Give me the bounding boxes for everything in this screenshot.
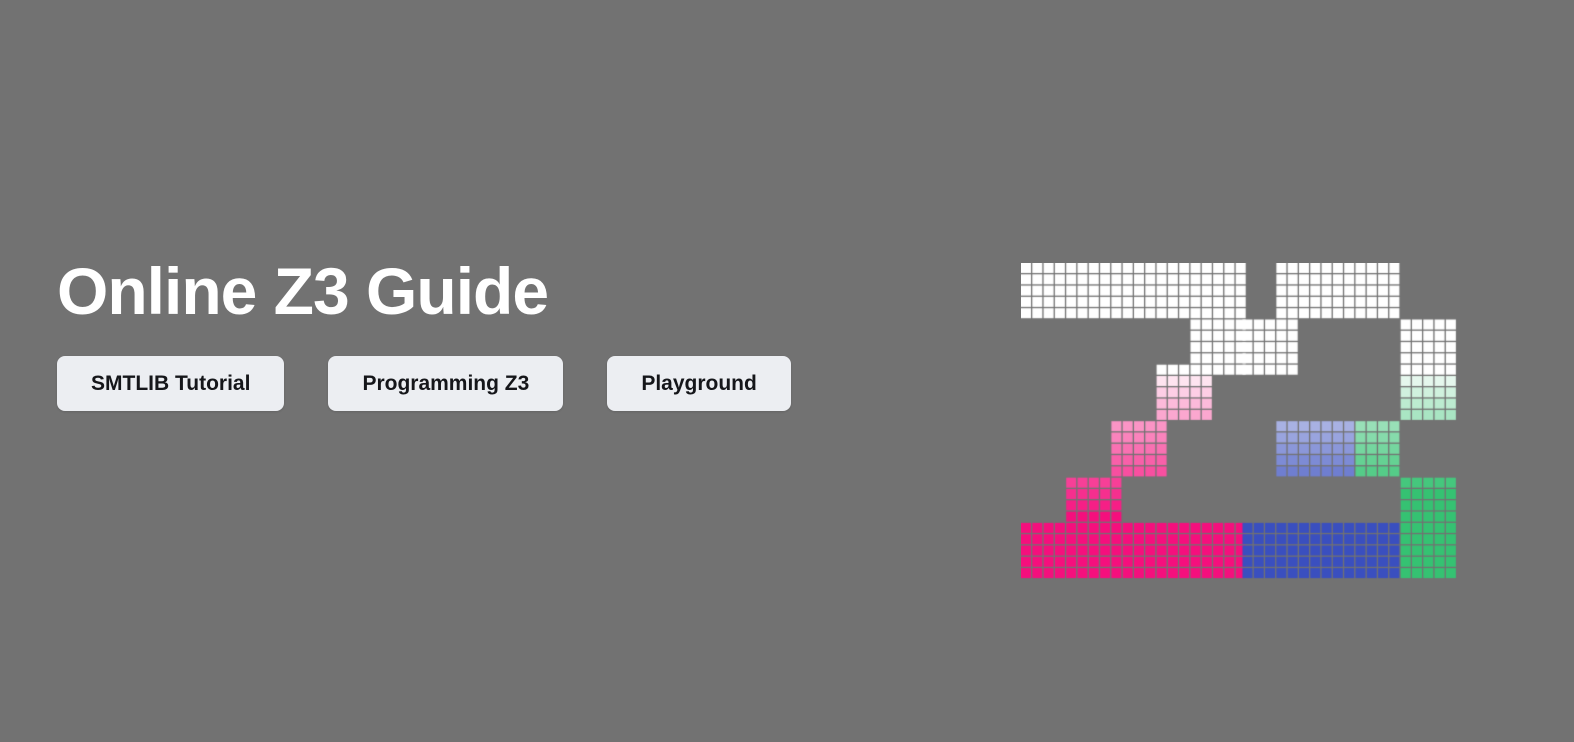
z3-pixel-logo — [1021, 263, 1521, 583]
hero-section: Online Z3 Guide SMTLIB Tutorial Programm… — [0, 0, 1574, 742]
page-title: Online Z3 Guide — [57, 258, 957, 324]
z3-logo-canvas — [1021, 263, 1521, 583]
hero-button-row: SMTLIB Tutorial Programming Z3 Playgroun… — [57, 356, 957, 411]
playground-button[interactable]: Playground — [607, 356, 791, 411]
hero-text-block: Online Z3 Guide SMTLIB Tutorial Programm… — [57, 258, 957, 411]
programming-z3-button[interactable]: Programming Z3 — [328, 356, 563, 411]
smtlib-tutorial-button[interactable]: SMTLIB Tutorial — [57, 356, 284, 411]
